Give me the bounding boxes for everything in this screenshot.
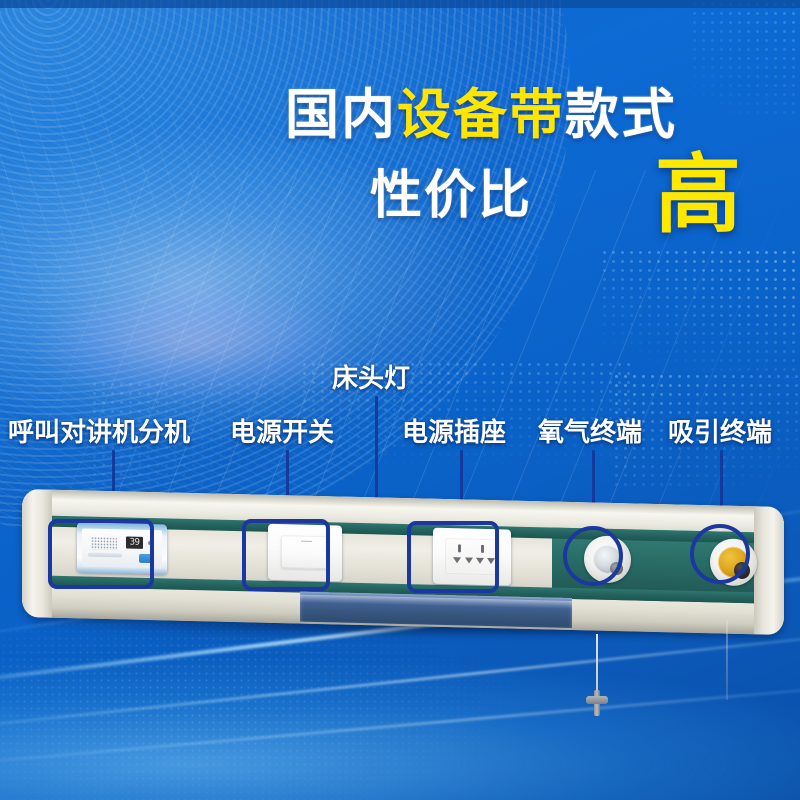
call-pendant-cord xyxy=(596,634,598,696)
connector-wing-icon xyxy=(586,696,608,704)
halftone-dots-topright xyxy=(690,0,800,120)
headline-line1-part3: 款式 xyxy=(565,83,677,146)
callout-label-intercom: 呼叫对讲机分机 xyxy=(8,412,190,449)
headline-line1-highlight: 设备带 xyxy=(397,83,565,146)
headline-highlight-big: 高 xyxy=(655,152,741,238)
switch-highlight-box xyxy=(242,519,330,591)
headline-line2-part1: 性价比 xyxy=(370,166,532,226)
suction-hose-cord xyxy=(726,620,728,700)
headline-line1-part1: 国内 xyxy=(285,83,397,146)
promo-image: 国内设备带款式 性价比 高 呼叫对讲机分机 电源开关 床头灯 电源插座 氧气终端… xyxy=(0,0,800,800)
socket-highlight-box xyxy=(407,521,499,593)
callout-label-oxygen: 氧气终端 xyxy=(538,412,642,449)
bed-lamp-strip[interactable] xyxy=(300,592,572,628)
pendant-connector xyxy=(586,690,608,716)
oxygen-highlight-circle xyxy=(563,526,623,586)
callout-label-bed-lamp: 床头灯 xyxy=(332,358,410,395)
panel-end-cap-right xyxy=(754,506,784,635)
callout-label-power-switch: 电源开关 xyxy=(230,412,334,449)
halftone-dots-right xyxy=(600,248,800,378)
lamp-gloss xyxy=(300,595,572,609)
top-edge-bar xyxy=(0,0,800,8)
callout-label-suction: 吸引终端 xyxy=(668,412,772,449)
intercom-highlight-box xyxy=(48,519,154,589)
callout-label-power-socket: 电源插座 xyxy=(402,412,506,449)
headline-line-1: 国内设备带款式 xyxy=(285,88,705,142)
suction-highlight-circle xyxy=(690,524,750,584)
